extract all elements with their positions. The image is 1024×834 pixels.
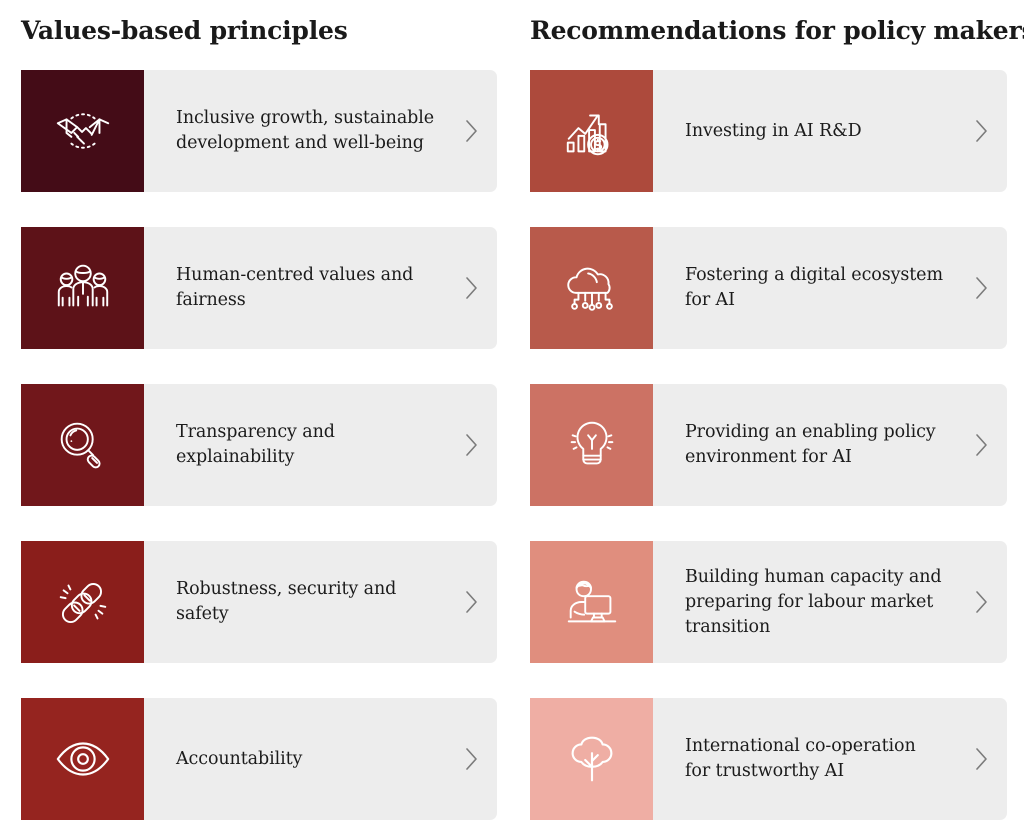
list-item[interactable]: Transparency and explainability [21,384,497,506]
list-item-label: Inclusive growth, sustainable developmen… [176,106,436,156]
list-item[interactable]: Human-centred values and fairness [21,227,497,349]
chevron-right-icon[interactable] [461,118,483,144]
list-item[interactable]: Accountability [21,698,497,820]
card-body: Fostering a digital ecosystem for AI [653,227,1007,349]
list-item-label: Building human capacity and preparing fo… [685,565,945,640]
list-item[interactable]: Fostering a digital ecosystem for AI [530,227,1007,349]
page-title-left: Values-based principles [21,16,497,46]
eye-icon [21,698,144,820]
card-list-left: Inclusive growth, sustainable developmen… [21,70,497,820]
card-body: International co-operation for trustwort… [653,698,1007,820]
page-title-right: Recommendations for policy makers [530,16,1007,46]
card-body: Transparency and explainability [144,384,497,506]
chevron-right-icon[interactable] [461,432,483,458]
chevron-right-icon[interactable] [461,275,483,301]
chevron-right-icon[interactable] [461,589,483,615]
list-item[interactable]: Providing an enabling policy environment… [530,384,1007,506]
card-body: Providing an enabling policy environment… [653,384,1007,506]
person-computer-icon [530,541,653,663]
lightbulb-icon [530,384,653,506]
growth-chart-dollar-icon [530,70,653,192]
list-item[interactable]: Inclusive growth, sustainable developmen… [21,70,497,192]
card-body: Accountability [144,698,497,820]
chevron-right-icon[interactable] [971,432,993,458]
chain-link-icon [21,541,144,663]
chevron-right-icon[interactable] [971,589,993,615]
list-item-label: Transparency and explainability [176,420,436,470]
handshake-icon [21,70,144,192]
card-body: Inclusive growth, sustainable developmen… [144,70,497,192]
list-item-label: Accountability [176,747,302,772]
chevron-right-icon[interactable] [971,118,993,144]
list-item-label: Human-centred values and fairness [176,263,436,313]
card-body: Investing in AI R&D [653,70,1007,192]
list-item[interactable]: Investing in AI R&D [530,70,1007,192]
chevron-right-icon[interactable] [971,746,993,772]
people-group-icon [21,227,144,349]
list-item[interactable]: International co-operation for trustwort… [530,698,1007,820]
card-body: Robustness, security and safety [144,541,497,663]
magnifying-glass-icon [21,384,144,506]
principles-recommendations-board: Values-based principles [0,0,1024,834]
cloud-network-icon [530,227,653,349]
list-item-label: Investing in AI R&D [685,119,862,144]
list-item[interactable]: Building human capacity and preparing fo… [530,541,1007,663]
list-item-label: Fostering a digital ecosystem for AI [685,263,945,313]
card-body: Building human capacity and preparing fo… [653,541,1007,663]
two-column-layout: Values-based principles [0,0,1024,834]
card-body: Human-centred values and fairness [144,227,497,349]
list-item-label: Robustness, security and safety [176,577,436,627]
tree-icon [530,698,653,820]
list-item[interactable]: Robustness, security and safety [21,541,497,663]
chevron-right-icon[interactable] [971,275,993,301]
list-item-label: International co-operation for trustwort… [685,734,945,784]
column-recommendations-for-policy-makers: Recommendations for policy makers [512,0,1024,834]
chevron-right-icon[interactable] [461,746,483,772]
card-list-right: Investing in AI R&D [530,70,1007,820]
column-values-based-principles: Values-based principles [0,0,512,834]
list-item-label: Providing an enabling policy environment… [685,420,945,470]
